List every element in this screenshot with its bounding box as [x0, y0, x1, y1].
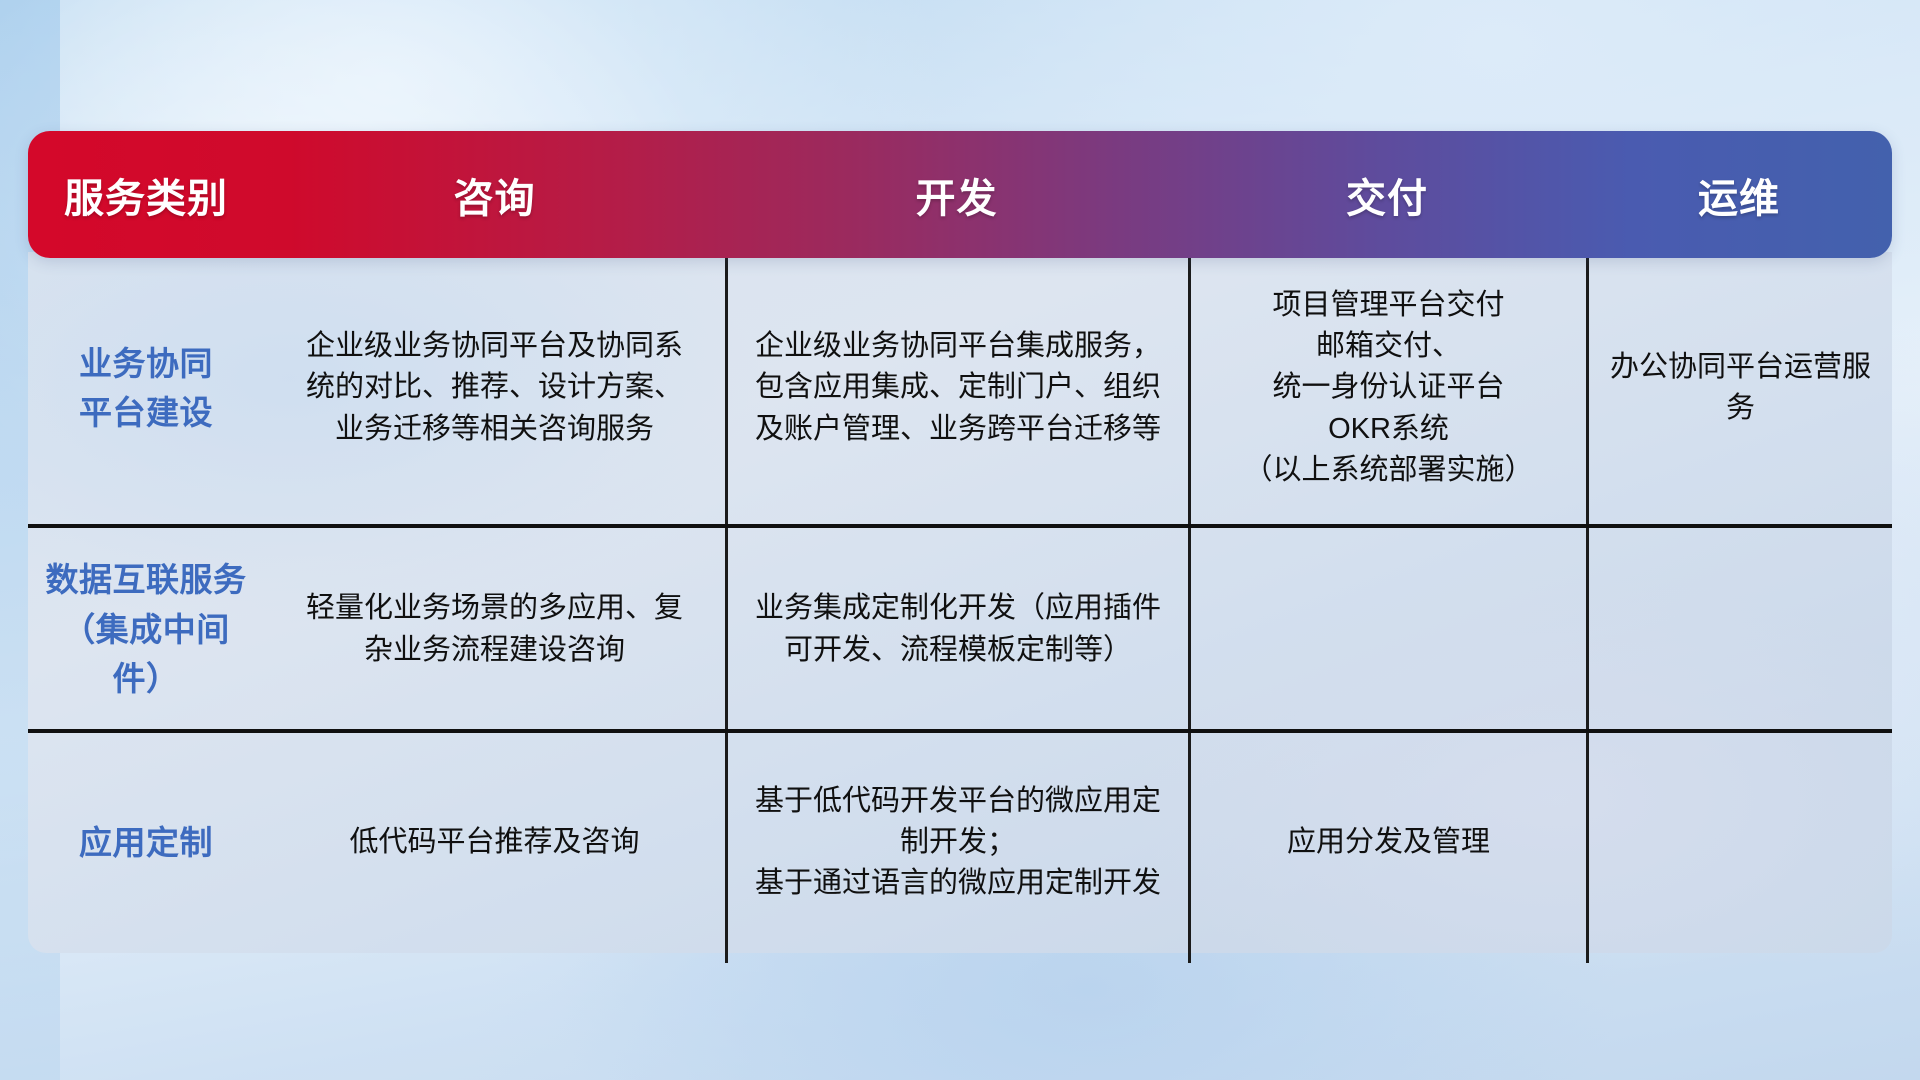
header-cell-consulting: 咨询 — [264, 166, 725, 224]
table-cell-operations: 办公协同平台运营服务 — [1589, 252, 1892, 524]
table-header-row: 服务类别 咨询 开发 交付 运维 — [28, 131, 1892, 258]
table-cell-delivery: 项目管理平台交付 邮箱交付、 统一身份认证平台 OKR系统 （以上系统部署实施） — [1191, 252, 1586, 524]
header-cell-service-category: 服务类别 — [28, 166, 264, 224]
table-cell-development: 业务集成定制化开发（应用插件 可开发、流程模板定制等） — [728, 527, 1188, 732]
table-cell-consulting: 企业级业务协同平台及协同系 统的对比、推荐、设计方案、 业务迁移等相关咨询服务 — [264, 252, 725, 524]
table-cell-development: 企业级业务协同平台集成服务， 包含应用集成、定制门户、组织 及账户管理、业务跨平… — [728, 252, 1188, 524]
table-cell-development: 基于低代码开发平台的微应用定 制开发； 基于通过语言的微应用定制开发 — [728, 732, 1188, 953]
table-cell-delivery: 应用分发及管理 — [1191, 732, 1586, 953]
table-row: 业务协同 平台建设 — [28, 252, 264, 524]
table-cell-operations — [1589, 527, 1892, 732]
table-cell-operations — [1589, 732, 1892, 953]
header-cell-delivery: 交付 — [1188, 166, 1586, 224]
service-matrix-table: 服务类别 咨询 开发 交付 运维 业务协同 平台建设 企业级业务协同平台及协同系… — [28, 131, 1892, 953]
table-cell-consulting: 轻量化业务场景的多应用、复 杂业务流程建设咨询 — [264, 527, 725, 732]
header-cell-development: 开发 — [725, 166, 1188, 224]
table-cell-consulting: 低代码平台推荐及咨询 — [264, 732, 725, 953]
table-cell-delivery — [1191, 527, 1586, 732]
table-row: 应用定制 — [28, 732, 264, 953]
header-cell-operations: 运维 — [1586, 166, 1892, 224]
table-row: 数据互联服务 （集成中间件） — [28, 527, 264, 732]
